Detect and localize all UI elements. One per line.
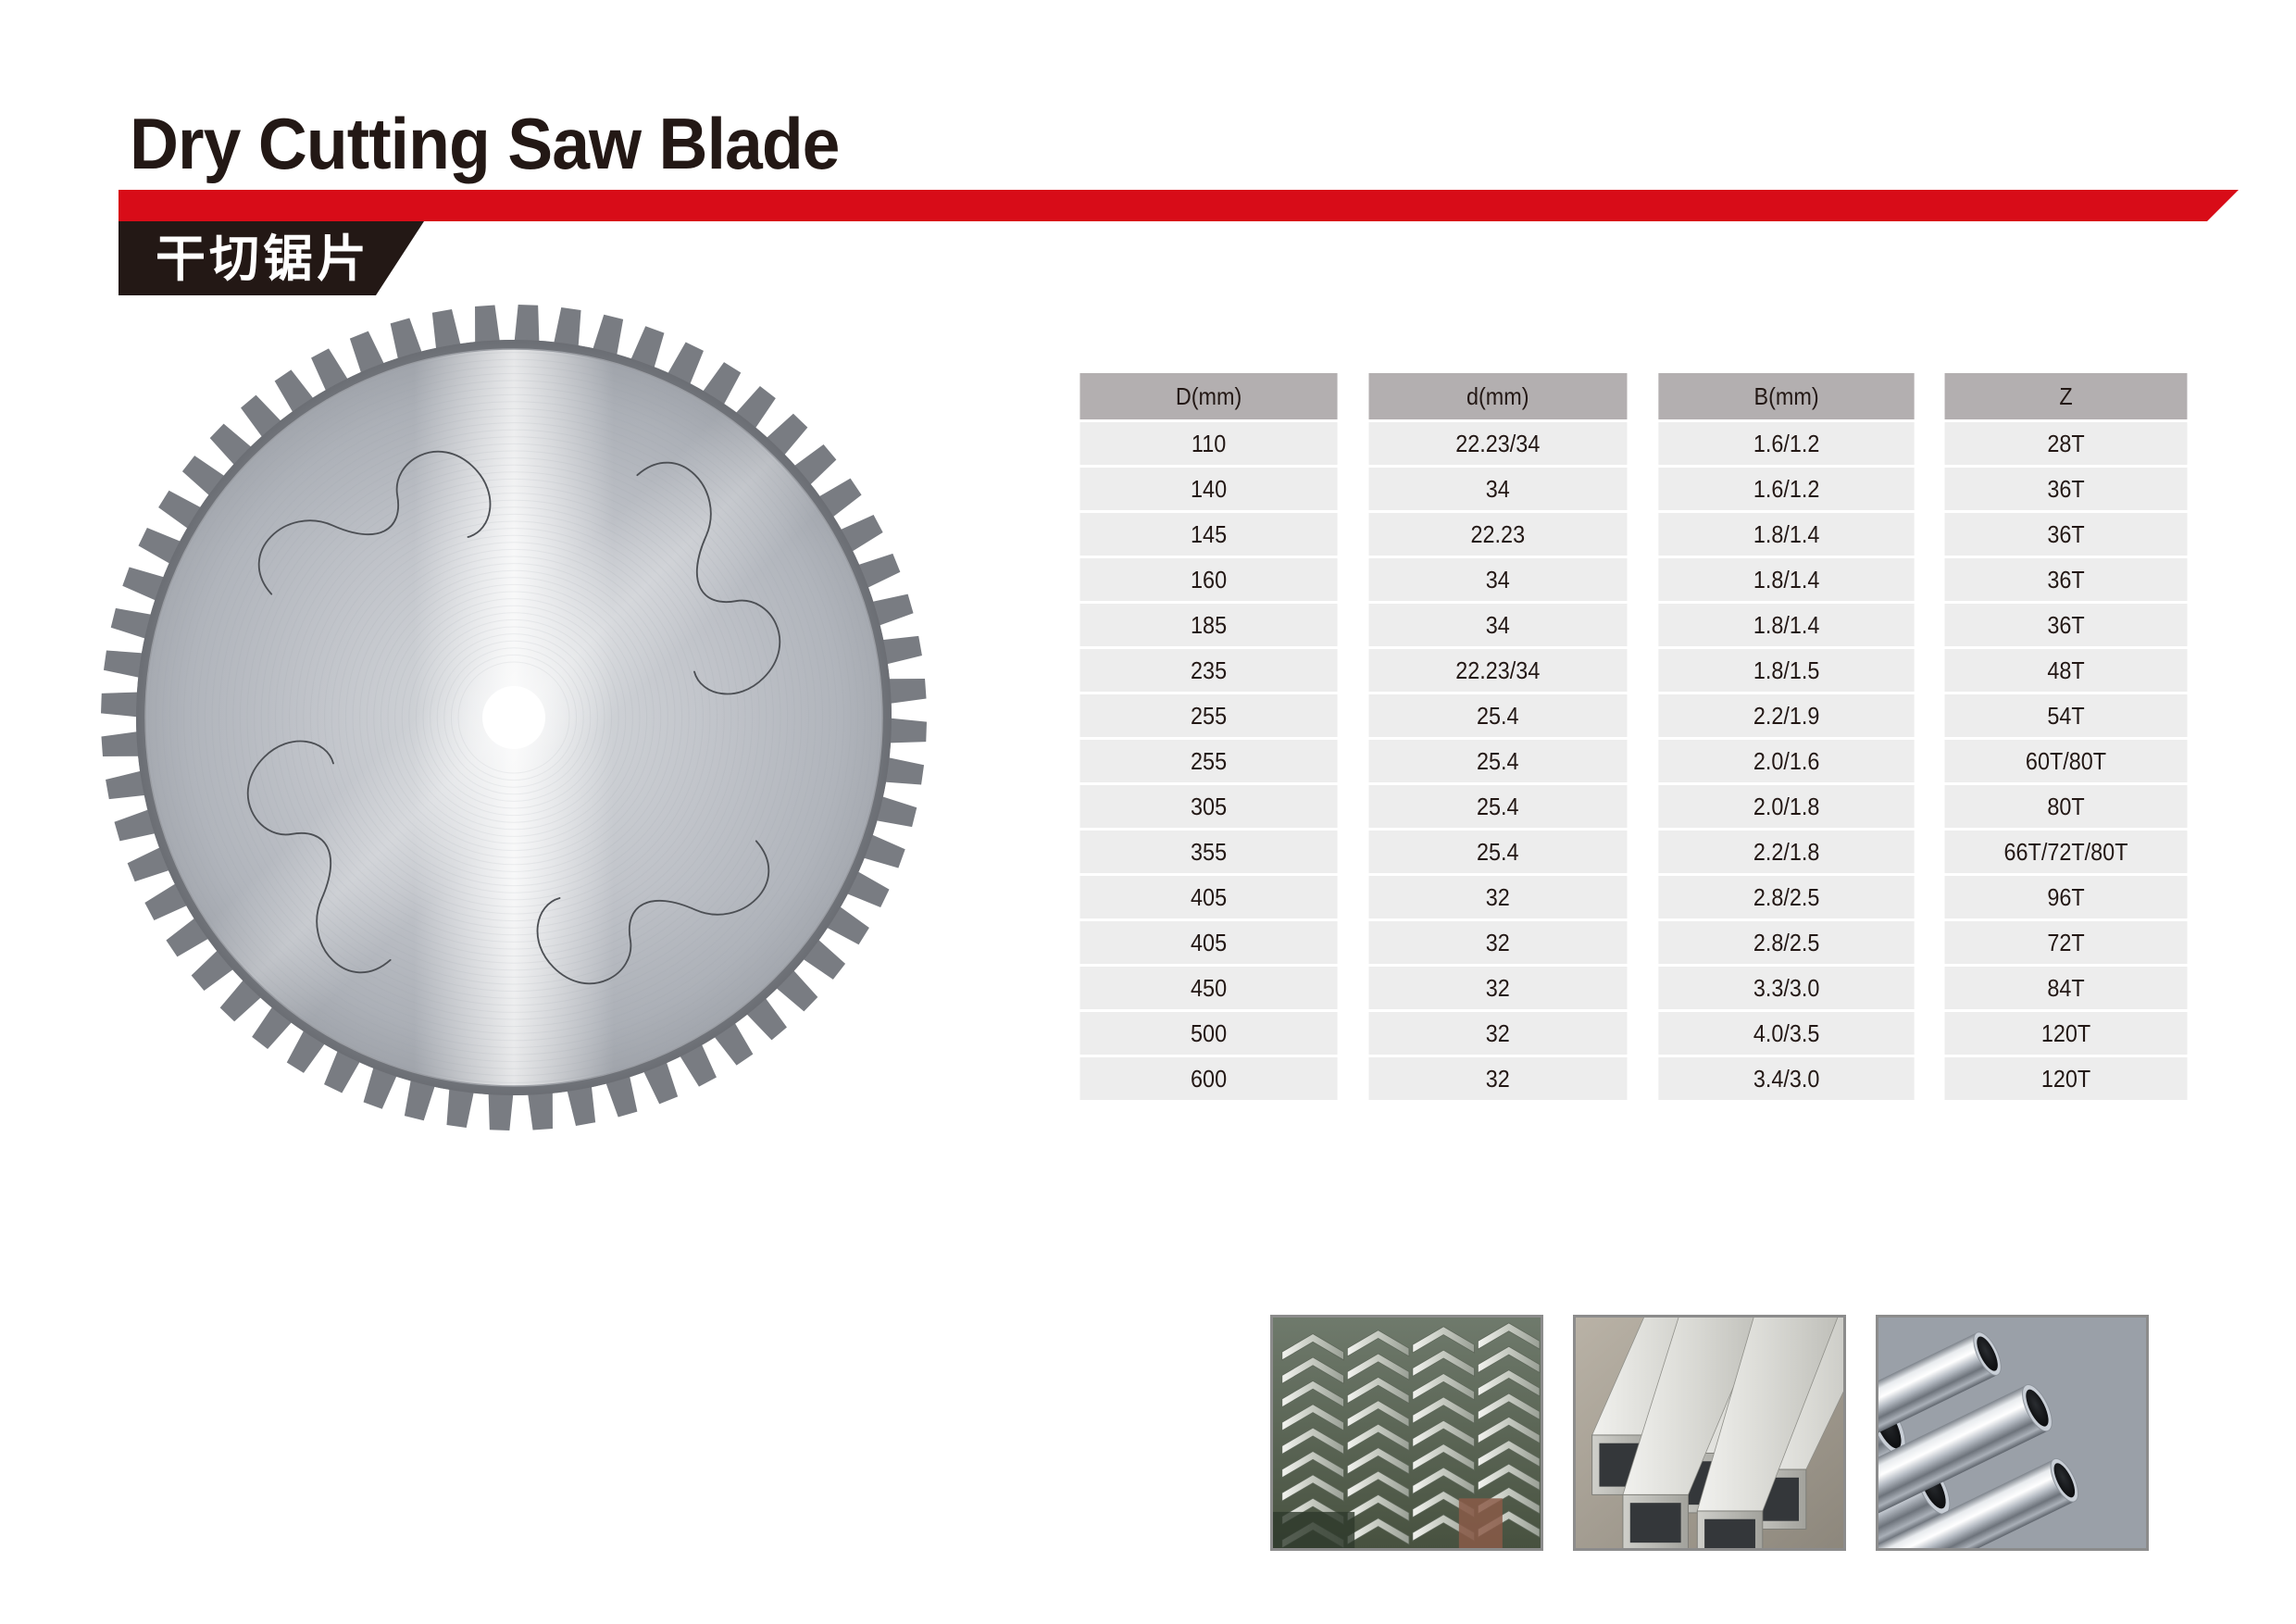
table-row: 405322.8/2.572T bbox=[1066, 921, 2201, 964]
cell-Bmm-11: 2.8/2.5 bbox=[1658, 921, 1914, 964]
cell-Dmm-10: 405 bbox=[1079, 876, 1337, 918]
cell-Z-12: 84T bbox=[1945, 967, 2188, 1009]
cell-Bmm-6: 2.2/1.9 bbox=[1658, 694, 1914, 737]
cell-dmm-5: 22.23/34 bbox=[1369, 649, 1628, 692]
cell-Z-4: 36T bbox=[1945, 604, 2188, 646]
cell-dmm-0: 22.23/34 bbox=[1369, 422, 1628, 465]
page-header: Dry Cutting Saw Blade 干切锯片 bbox=[0, 0, 2296, 296]
square-steel-tubes-photo bbox=[1573, 1315, 1846, 1551]
subtitle-chinese-label: 干切锯片 bbox=[156, 231, 387, 288]
cell-dmm-11: 32 bbox=[1369, 921, 1628, 964]
arbor-hole bbox=[482, 686, 545, 749]
table-row: 35525.42.2/1.866T/72T/80T bbox=[1066, 831, 2201, 873]
table-row: 405322.8/2.596T bbox=[1066, 876, 2201, 918]
cell-Dmm-4: 185 bbox=[1079, 604, 1337, 646]
round-steel-pipes-photo bbox=[1876, 1315, 2149, 1551]
cell-Dmm-8: 305 bbox=[1079, 785, 1337, 828]
column-header-d: d(mm) bbox=[1369, 373, 1628, 419]
cell-Z-8: 80T bbox=[1945, 785, 2188, 828]
table-row: 500324.0/3.5120T bbox=[1066, 1012, 2201, 1055]
table-row: 450323.3/3.084T bbox=[1066, 967, 2201, 1009]
cell-Dmm-5: 235 bbox=[1079, 649, 1337, 692]
cell-Z-5: 48T bbox=[1945, 649, 2188, 692]
table-row: 30525.42.0/1.880T bbox=[1066, 785, 2201, 828]
cell-dmm-2: 22.23 bbox=[1369, 513, 1628, 556]
cell-dmm-9: 25.4 bbox=[1369, 831, 1628, 873]
saw-blade-image bbox=[97, 301, 930, 1134]
cell-Bmm-5: 1.8/1.5 bbox=[1658, 649, 1914, 692]
cell-Bmm-12: 3.3/3.0 bbox=[1658, 967, 1914, 1009]
cell-Dmm-1: 140 bbox=[1079, 468, 1337, 510]
page-title: Dry Cutting Saw Blade bbox=[130, 102, 840, 186]
table-row: 140341.6/1.236T bbox=[1066, 468, 2201, 510]
cell-Dmm-7: 255 bbox=[1079, 740, 1337, 782]
cell-dmm-12: 32 bbox=[1369, 967, 1628, 1009]
cell-Dmm-2: 145 bbox=[1079, 513, 1337, 556]
cell-Z-2: 36T bbox=[1945, 513, 2188, 556]
cell-dmm-8: 25.4 bbox=[1369, 785, 1628, 828]
cell-Z-10: 96T bbox=[1945, 876, 2188, 918]
cell-Bmm-13: 4.0/3.5 bbox=[1658, 1012, 1914, 1055]
steel-angle-bars-photo bbox=[1270, 1315, 1543, 1551]
cell-Bmm-3: 1.8/1.4 bbox=[1658, 558, 1914, 601]
cell-Dmm-13: 500 bbox=[1079, 1012, 1337, 1055]
cell-Dmm-11: 405 bbox=[1079, 921, 1337, 964]
cell-Z-13: 120T bbox=[1945, 1012, 2188, 1055]
cell-Bmm-2: 1.8/1.4 bbox=[1658, 513, 1914, 556]
table-body: 11022.23/341.6/1.228T140341.6/1.236T1452… bbox=[1066, 422, 2201, 1100]
cell-Bmm-7: 2.0/1.6 bbox=[1658, 740, 1914, 782]
cell-Dmm-9: 355 bbox=[1079, 831, 1337, 873]
cell-Bmm-14: 3.4/3.0 bbox=[1658, 1057, 1914, 1100]
cell-Z-1: 36T bbox=[1945, 468, 2188, 510]
cell-Dmm-0: 110 bbox=[1079, 422, 1337, 465]
cell-Bmm-10: 2.8/2.5 bbox=[1658, 876, 1914, 918]
cell-dmm-10: 32 bbox=[1369, 876, 1628, 918]
cell-dmm-7: 25.4 bbox=[1369, 740, 1628, 782]
cell-dmm-13: 32 bbox=[1369, 1012, 1628, 1055]
column-header-D: D(mm) bbox=[1079, 373, 1337, 419]
cell-Z-11: 72T bbox=[1945, 921, 2188, 964]
column-header-B: B(mm) bbox=[1658, 373, 1914, 419]
cell-Bmm-0: 1.6/1.2 bbox=[1658, 422, 1914, 465]
table-header-row: D(mm) d(mm) B(mm) Z bbox=[1066, 373, 2201, 419]
cell-dmm-1: 34 bbox=[1369, 468, 1628, 510]
cell-Dmm-6: 255 bbox=[1079, 694, 1337, 737]
table-row: 23522.23/341.8/1.548T bbox=[1066, 649, 2201, 692]
table-row: 160341.8/1.436T bbox=[1066, 558, 2201, 601]
cell-Dmm-3: 160 bbox=[1079, 558, 1337, 601]
cell-dmm-4: 34 bbox=[1369, 604, 1628, 646]
table-row: 14522.231.8/1.436T bbox=[1066, 513, 2201, 556]
cell-Bmm-9: 2.2/1.8 bbox=[1658, 831, 1914, 873]
cell-Z-6: 54T bbox=[1945, 694, 2188, 737]
cell-Z-9: 66T/72T/80T bbox=[1945, 831, 2188, 873]
cell-Dmm-14: 600 bbox=[1079, 1057, 1337, 1100]
application-photos bbox=[1270, 1315, 2149, 1551]
cell-Bmm-4: 1.8/1.4 bbox=[1658, 604, 1914, 646]
column-header-Z: Z bbox=[1945, 373, 2188, 419]
cell-Bmm-1: 1.6/1.2 bbox=[1658, 468, 1914, 510]
cell-Bmm-8: 2.0/1.8 bbox=[1658, 785, 1914, 828]
cell-dmm-6: 25.4 bbox=[1369, 694, 1628, 737]
cell-dmm-3: 34 bbox=[1369, 558, 1628, 601]
table-row: 185341.8/1.436T bbox=[1066, 604, 2201, 646]
cell-dmm-14: 32 bbox=[1369, 1057, 1628, 1100]
table-row: 11022.23/341.6/1.228T bbox=[1066, 422, 2201, 465]
specification-table: D(mm) d(mm) B(mm) Z 11022.23/341.6/1.228… bbox=[1063, 370, 2203, 1103]
table-row: 600323.4/3.0120T bbox=[1066, 1057, 2201, 1100]
cell-Z-3: 36T bbox=[1945, 558, 2188, 601]
table-row: 25525.42.0/1.660T/80T bbox=[1066, 740, 2201, 782]
red-accent-bar bbox=[119, 190, 2239, 221]
saw-blade-graphic bbox=[97, 301, 930, 1134]
cell-Dmm-12: 450 bbox=[1079, 967, 1337, 1009]
table-row: 25525.42.2/1.954T bbox=[1066, 694, 2201, 737]
cell-Z-7: 60T/80T bbox=[1945, 740, 2188, 782]
cell-Z-0: 28T bbox=[1945, 422, 2188, 465]
cell-Z-14: 120T bbox=[1945, 1057, 2188, 1100]
